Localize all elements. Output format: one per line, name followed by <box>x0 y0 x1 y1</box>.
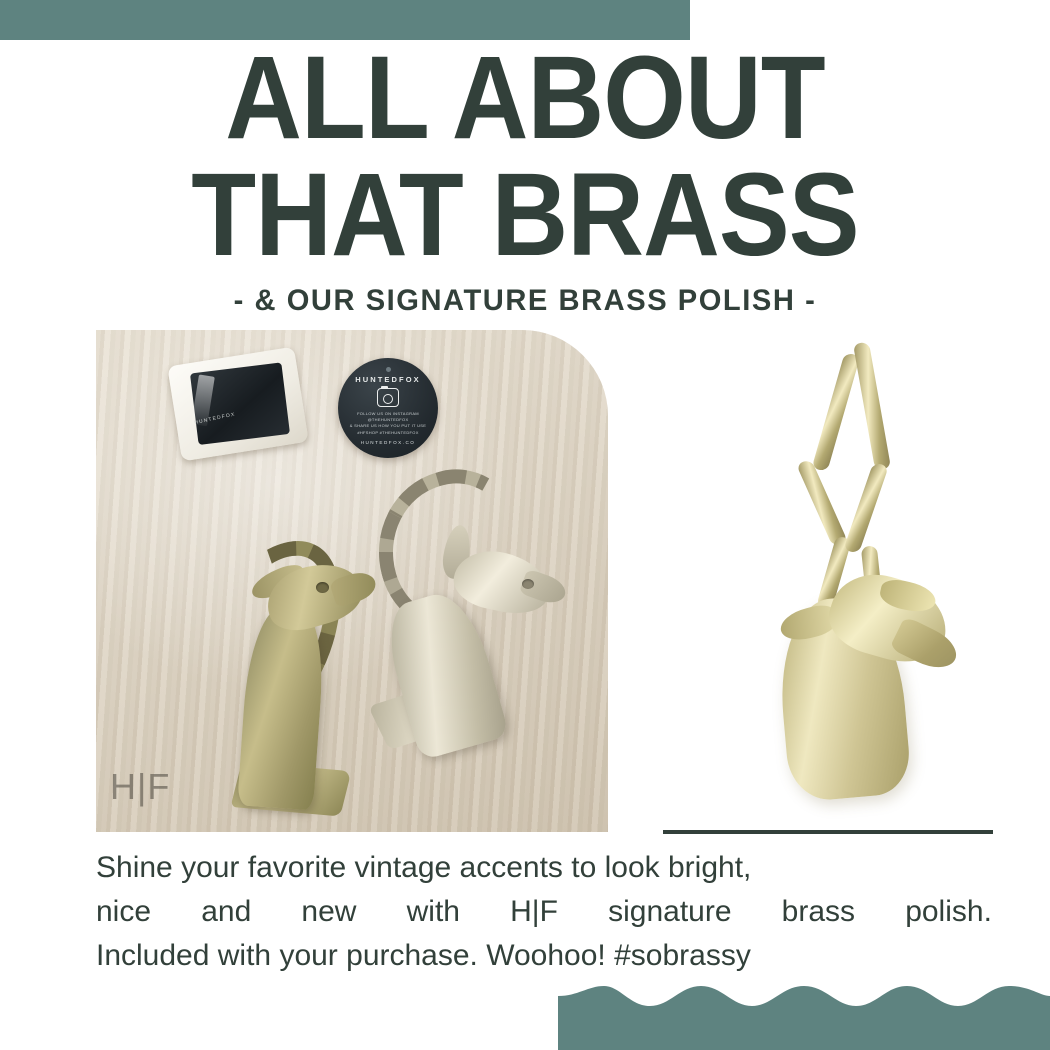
sculpture-eye <box>316 582 329 593</box>
hang-tag-brand-label: HUNTEDFOX <box>355 375 421 384</box>
wave-shape <box>558 982 1050 1050</box>
page-subtitle: - & OUR SIGNATURE BRASS POLISH - <box>16 284 1035 318</box>
kudu-horn-segment <box>853 342 891 470</box>
brass-kudu-sculpture <box>752 340 1032 810</box>
body-copy-line-3: Included with your purchase. Woohoo! #so… <box>96 934 992 978</box>
kudu-horn-segment <box>843 462 889 553</box>
hang-tag-card: HUNTEDFOX FOLLOW US ON INSTAGRAM @THEHUN… <box>338 358 438 458</box>
scalloped-wave-band <box>558 982 1050 1050</box>
hang-tag-line: #HFSHOP #THEHUNTEDFOX <box>338 430 438 436</box>
hang-tag-line: & SHARE US HOW YOU PUT IT USE <box>338 423 438 429</box>
hang-tag-hole <box>386 367 391 372</box>
body-copy-word: nice <box>96 890 151 934</box>
body-copy-word: H|F <box>510 890 558 934</box>
body-copy-word: with <box>407 890 460 934</box>
kudu-horn-segment <box>796 459 848 547</box>
polish-cloth-packet: HUNTEDFOX <box>167 347 308 462</box>
body-copy-word: brass <box>782 890 855 934</box>
brass-ibex-sculpture-polished <box>358 465 578 785</box>
horizontal-divider <box>663 830 993 834</box>
body-copy-word: new <box>301 890 356 934</box>
page-title-line-1: ALL ABOUT <box>53 42 998 155</box>
body-copy: Shine your favorite vintage accents to l… <box>96 846 992 978</box>
body-copy-word: signature <box>608 890 731 934</box>
body-copy-line-1: Shine your favorite vintage accents to l… <box>96 846 992 890</box>
instagram-camera-icon <box>377 388 399 407</box>
body-copy-word: and <box>201 890 251 934</box>
body-copy-word: polish. <box>905 890 992 934</box>
product-photo: HUNTEDFOX HUNTEDFOX FOLLOW US ON INSTAGR… <box>96 330 608 832</box>
hang-tag-line: FOLLOW US ON INSTAGRAM @THEHUNTEDFOX <box>338 411 438 423</box>
hunted-fox-watermark: H|F <box>110 766 170 808</box>
sculpture-eye <box>522 579 534 589</box>
hang-tag-detail-lines: FOLLOW US ON INSTAGRAM @THEHUNTEDFOX & S… <box>338 411 438 436</box>
kudu-horn-segment <box>812 353 861 472</box>
headline-block: ALL ABOUT THAT BRASS <box>0 42 1050 273</box>
body-copy-line-2: nice and new with H|F signature brass po… <box>96 890 992 934</box>
hang-tag-url: HUNTEDFOX.CO <box>361 440 416 445</box>
page-title-line-2: THAT BRASS <box>53 159 998 272</box>
